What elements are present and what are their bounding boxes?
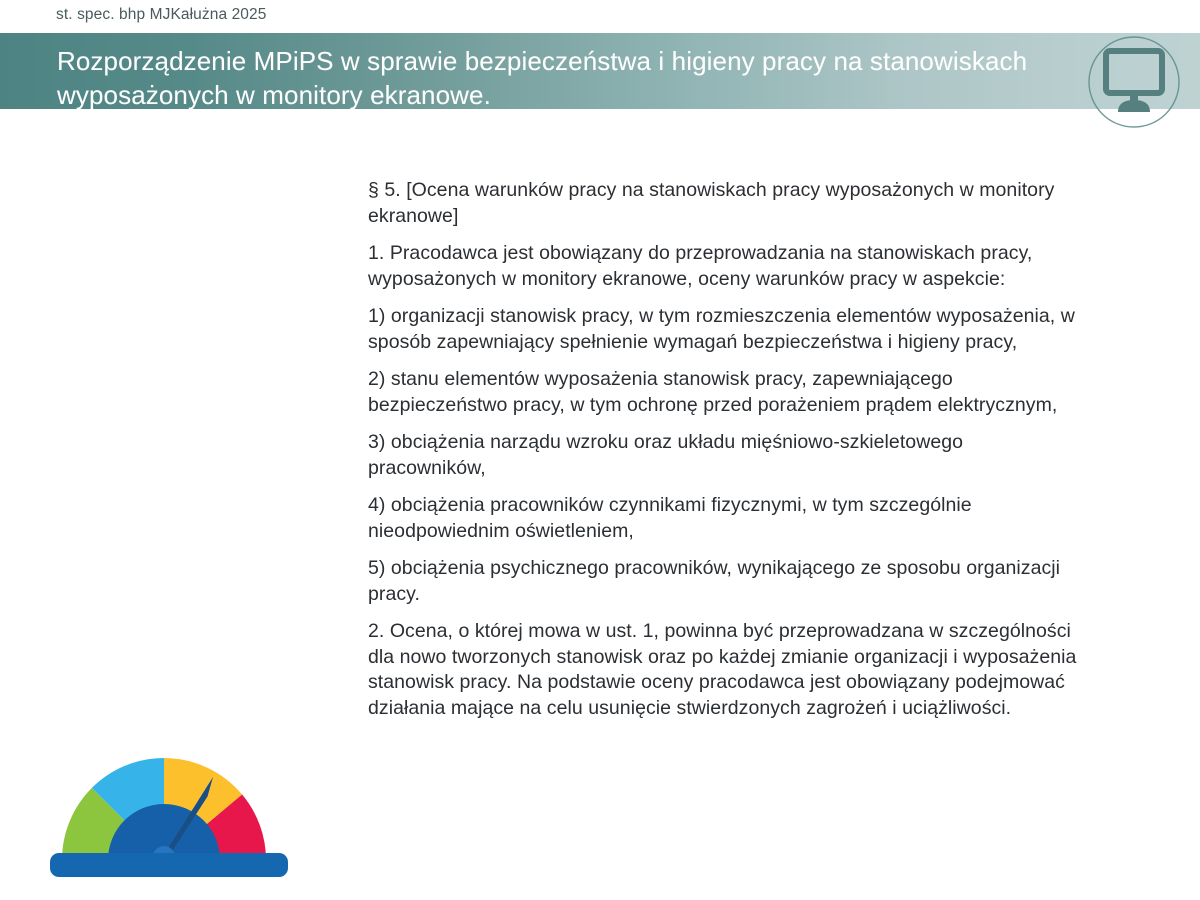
paragraph: 4) obciążenia pracowników czynnikami fiz… — [368, 493, 1080, 544]
paragraph: 1. Pracodawca jest obowiązany do przepro… — [368, 241, 1080, 292]
page-title: Rozporządzenie MPiPS w sprawie bezpiecze… — [57, 44, 1057, 109]
assessment-gauge-icon — [44, 742, 294, 882]
paragraph: 5) obciążenia psychicznego pracowników, … — [368, 556, 1080, 607]
gauge-base — [50, 853, 288, 877]
body-copy: § 5. [Ocena warunków pracy na stanowiska… — [368, 178, 1080, 721]
paragraph: 2) stanu elementów wyposażenia stanowisk… — [368, 367, 1080, 418]
header-band: Rozporządzenie MPiPS w sprawie bezpiecze… — [0, 33, 1200, 109]
paragraph: 1) organizacji stanowisk pracy, w tym ro… — [368, 304, 1080, 355]
paragraph: 3) obciążenia narządu wzroku oraz układu… — [368, 430, 1080, 481]
slide-kicker: st. spec. bhp MJKałużna 2025 — [56, 6, 266, 24]
slide-canvas: st. spec. bhp MJKałużna 2025 Rozporządze… — [0, 0, 1200, 900]
paragraph: § 5. [Ocena warunków pracy na stanowiska… — [368, 178, 1080, 229]
paragraph: 2. Ocena, o której mowa w ust. 1, powinn… — [368, 619, 1080, 721]
